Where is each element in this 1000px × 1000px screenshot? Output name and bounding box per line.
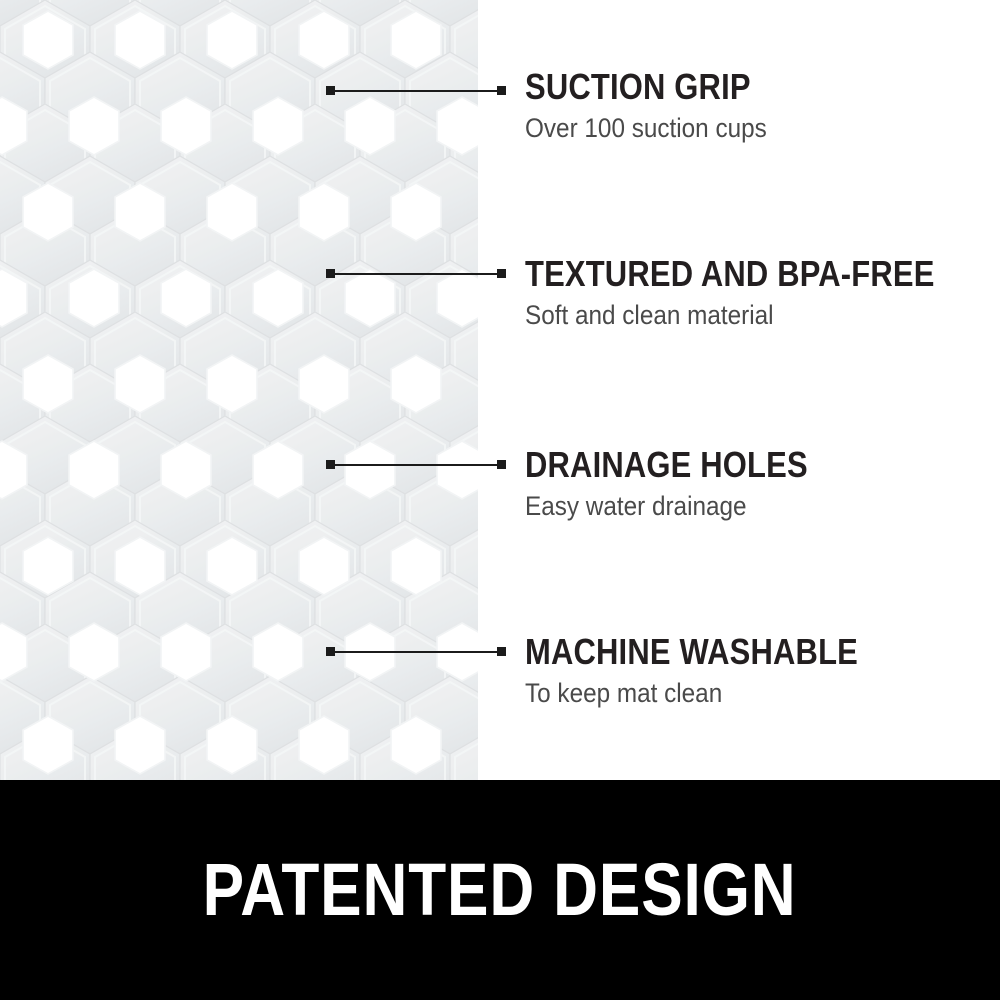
callout-text-block-4: MACHINE WASHABLE To keep mat clean (525, 633, 912, 708)
callout-text-block-1: SUCTION GRIP Over 100 suction cups (525, 68, 794, 143)
callout-text-block-3: DRAINAGE HOLES Easy water drainage (525, 446, 854, 521)
callout-list: SUCTION GRIP Over 100 suction cups TEXTU… (0, 0, 1000, 780)
leader-endpoint-square-right (497, 460, 506, 469)
leader-line-bar (330, 273, 502, 275)
leader-line-bar (330, 464, 502, 466)
callout-title: TEXTURED AND BPA-FREE (525, 255, 935, 293)
banner-title: PATENTED DESIGN (203, 850, 797, 930)
leader-endpoint-square-right (497, 269, 506, 278)
leader-line-bar (330, 651, 502, 653)
callout-subtitle: Over 100 suction cups (525, 113, 767, 143)
leader-endpoint-square-right (497, 647, 506, 656)
callout-title: MACHINE WASHABLE (525, 633, 858, 671)
callout-subtitle: Easy water drainage (525, 491, 821, 521)
product-feature-infographic: SUCTION GRIP Over 100 suction cups TEXTU… (0, 0, 1000, 1000)
leader-line-3 (326, 459, 506, 471)
leader-line-1 (326, 85, 506, 97)
bottom-banner: PATENTED DESIGN (0, 780, 1000, 1000)
callout-text-block-2: TEXTURED AND BPA-FREE Soft and clean mat… (525, 255, 1000, 330)
leader-line-2 (326, 268, 506, 280)
callout-title: SUCTION GRIP (525, 68, 756, 106)
leader-endpoint-square-right (497, 86, 506, 95)
callout-subtitle: Soft and clean material (525, 300, 954, 330)
leader-line-4 (326, 646, 506, 658)
callout-title: DRAINAGE HOLES (525, 446, 808, 484)
callout-subtitle: To keep mat clean (525, 678, 873, 708)
leader-line-bar (330, 90, 502, 92)
